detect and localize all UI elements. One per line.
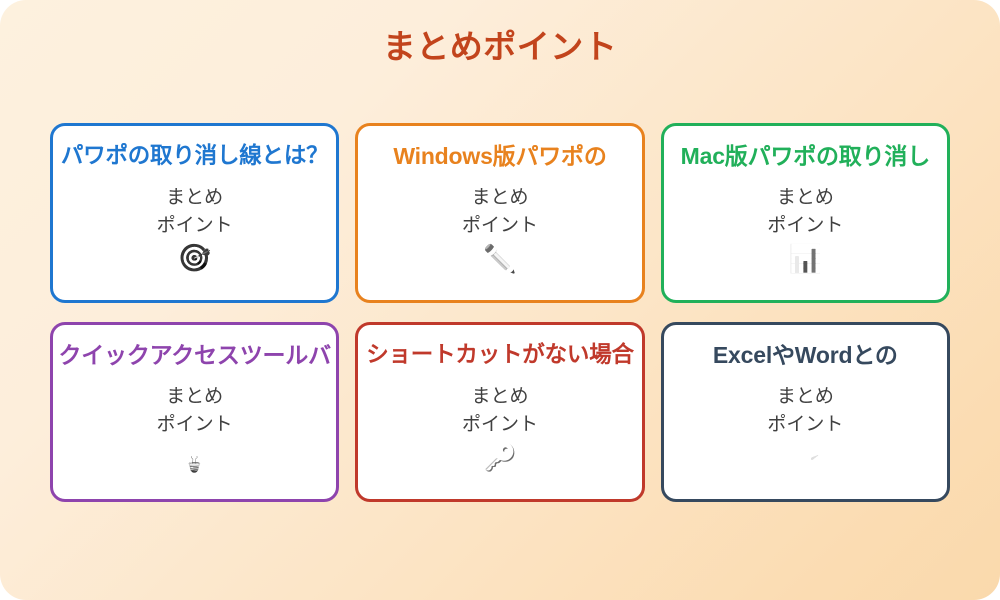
card-body: まとめ ポイント bbox=[767, 184, 843, 240]
card-title: Windows版パワポの bbox=[393, 144, 606, 169]
page-title: まとめポイント bbox=[0, 27, 1000, 67]
slide-canvas: まとめポイント パワポの取り消し線とは？ まとめ ポイント 🎯 Windows版… bbox=[0, 0, 1000, 600]
card-body-line-1: まとめ bbox=[462, 184, 538, 212]
card-title: クイックアクセスツールバ bbox=[58, 343, 330, 368]
card-title: ショートカットがない場合 bbox=[366, 343, 634, 368]
summary-card[interactable]: ExcelやWordとの まとめ ポイント ⭐ bbox=[661, 322, 950, 502]
summary-card[interactable]: Windows版パワポの まとめ ポイント ✏️ bbox=[355, 123, 644, 303]
card-body-line-2: ポイント bbox=[462, 212, 538, 240]
card-body-line-2: ポイント bbox=[767, 212, 843, 240]
summary-card[interactable]: Mac版パワポの取り消し まとめ ポイント 📊 bbox=[661, 123, 950, 303]
dart-target-icon: 🎯 bbox=[178, 245, 212, 272]
card-title: パワポの取り消し線とは？ bbox=[61, 144, 329, 169]
star-icon: ⭐ bbox=[789, 445, 823, 472]
summary-card[interactable]: クイックアクセスツールバ まとめ ポイント 💡 bbox=[50, 322, 339, 502]
card-body: まとめ ポイント bbox=[462, 383, 538, 439]
summary-card-grid: パワポの取り消し線とは？ まとめ ポイント 🎯 Windows版パワポの まとめ… bbox=[50, 123, 950, 502]
key-icon: 🔑 bbox=[483, 444, 517, 471]
summary-card[interactable]: ショートカットがない場合 まとめ ポイント 🔑 bbox=[355, 322, 644, 502]
card-body-line-1: まとめ bbox=[462, 383, 538, 411]
card-body-line-2: ポイント bbox=[462, 411, 538, 439]
card-body-line-2: ポイント bbox=[157, 212, 233, 240]
card-body-line-1: まとめ bbox=[157, 184, 233, 212]
card-title: ExcelやWordとの bbox=[713, 343, 898, 368]
card-body-line-2: ポイント bbox=[767, 411, 843, 439]
card-body-line-1: まとめ bbox=[767, 184, 843, 212]
pencil-icon: ✏️ bbox=[483, 246, 517, 273]
card-body: まとめ ポイント bbox=[157, 184, 233, 240]
card-body: まとめ ポイント bbox=[157, 383, 233, 439]
card-title: Mac版パワポの取り消し bbox=[681, 144, 930, 169]
card-body: まとめ ポイント bbox=[767, 383, 843, 439]
lightbulb-icon: 💡 bbox=[178, 445, 212, 472]
card-body: まとめ ポイント bbox=[462, 184, 538, 240]
bar-chart-icon: 📊 bbox=[789, 246, 823, 273]
card-body-line-2: ポイント bbox=[157, 411, 233, 439]
card-body-line-1: まとめ bbox=[157, 383, 233, 411]
summary-card[interactable]: パワポの取り消し線とは？ まとめ ポイント 🎯 bbox=[50, 123, 339, 303]
card-body-line-1: まとめ bbox=[767, 383, 843, 411]
